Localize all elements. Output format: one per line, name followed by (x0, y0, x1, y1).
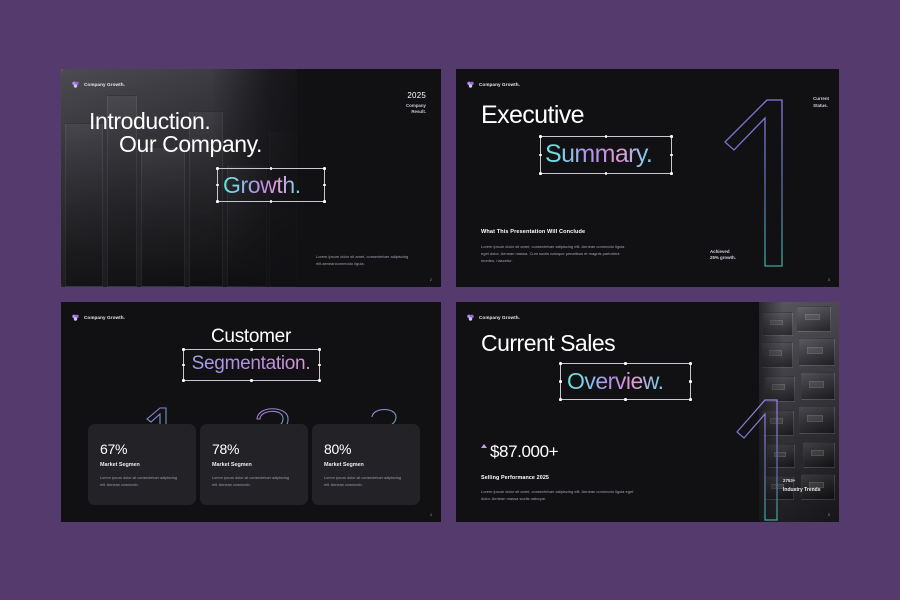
slide2-status-label: Current Status. (813, 96, 829, 109)
segment-text: Lorem ipsum dolor sit consectetuer adipi… (100, 475, 182, 489)
slide-logo[interactable]: Company Growth. (466, 80, 520, 89)
slide1-accent-word: Growth. (223, 172, 301, 199)
slide1-year: 2025 (406, 91, 426, 100)
slide1-year-block: 2025 Company Result. (406, 91, 426, 116)
hexagon-cluster-logo-icon (466, 80, 475, 89)
slide3-page-number: 4 (430, 512, 432, 517)
slide4-page-number: 5 (828, 512, 830, 517)
year-caption-line2: Result. (406, 109, 426, 115)
achieved-line2: 25% growth. (710, 255, 736, 262)
segment-text: Lorem ipsum dolor sit consectetuer adipi… (212, 475, 294, 489)
logo-text: Company Growth. (84, 82, 125, 87)
logo-text: Company Growth. (84, 315, 125, 320)
outline-numeral-one (722, 94, 792, 271)
slide2-title: Executive (481, 101, 584, 130)
slide-logo[interactable]: Company Growth. (466, 313, 520, 322)
slide-introduction[interactable]: Company Growth. Introduction. Our Compan… (61, 69, 441, 287)
status-line2: Status. (813, 103, 829, 110)
slide2-accent-word: Summary. (545, 140, 652, 169)
segment-label: Market Segmen (324, 462, 364, 468)
logo-text: Company Growth. (479, 82, 520, 87)
stat-label: Industry Trends (783, 487, 831, 493)
segment-label: Market Segmen (100, 462, 140, 468)
trend-up-triangle-icon (481, 444, 487, 448)
slide2-body-text: Lorem ipsum dolor sit amet, consectetuer… (481, 243, 633, 265)
slide2-page-number: 3 (828, 277, 830, 282)
slide1-page-number: 2 (430, 277, 432, 282)
slide2-section-heading: What This Presentation Will Conclude (481, 229, 585, 235)
slide3-title: Customer (61, 326, 441, 348)
slide2-achieved-label: Achieved 25% growth. (710, 249, 736, 262)
slide-executive-summary[interactable]: Company Growth. Executive Summary. What … (456, 69, 839, 287)
slide4-stat-block: 2753+ Industry Trends (783, 478, 831, 493)
slide4-section-heading: Selling Performance 2025 (481, 475, 549, 481)
segment-text: Lorem ipsum dolor sit consectetuer adipi… (324, 475, 406, 489)
slide1-title-line2: Our Company. (119, 131, 262, 158)
slide4-body-text: Lorem ipsum dolor sit amet, consectetuer… (481, 488, 636, 502)
slide3-accent-word: Segmentation. (61, 353, 441, 375)
hexagon-cluster-logo-icon (466, 313, 475, 322)
segment-label: Market Segmen (212, 462, 252, 468)
slide4-amount: $87.000+ (490, 442, 558, 462)
stat-value: 2753+ (783, 478, 831, 483)
segment-card[interactable]: 78% Market Segmen Lorem ipsum dolor sit … (200, 424, 308, 505)
slide1-note-text: Lorem ipsum dolor sit amet, consectetuer… (316, 253, 428, 267)
outline-numeral-one (735, 396, 783, 522)
logo-text: Company Growth. (479, 315, 520, 320)
segment-card[interactable]: 80% Market Segmen Lorem ipsum dolor sit … (312, 424, 420, 505)
status-line1: Current (813, 96, 829, 103)
segment-percent: 67% (100, 441, 127, 457)
slide-current-sales-overview[interactable]: Company Growth. Current Sales Overview. … (456, 302, 839, 522)
slide-logo[interactable]: Company Growth. (71, 80, 125, 89)
slide1-year-caption: Company Result. (406, 103, 426, 116)
slide4-title: Current Sales (481, 330, 615, 357)
segment-percent: 78% (212, 441, 239, 457)
achieved-line1: Achieved (710, 249, 736, 256)
hexagon-cluster-logo-icon (71, 80, 80, 89)
segment-percent: 80% (324, 441, 351, 457)
presentation-preview-canvas: Company Growth. Introduction. Our Compan… (0, 0, 900, 600)
slide-customer-segmentation[interactable]: Company Growth. Customer Segmentation. 6… (61, 302, 441, 522)
slide-logo[interactable]: Company Growth. (71, 313, 125, 322)
slide4-accent-word: Overview. (567, 368, 663, 395)
hexagon-cluster-logo-icon (71, 313, 80, 322)
segment-card[interactable]: 67% Market Segmen Lorem ipsum dolor sit … (88, 424, 196, 505)
